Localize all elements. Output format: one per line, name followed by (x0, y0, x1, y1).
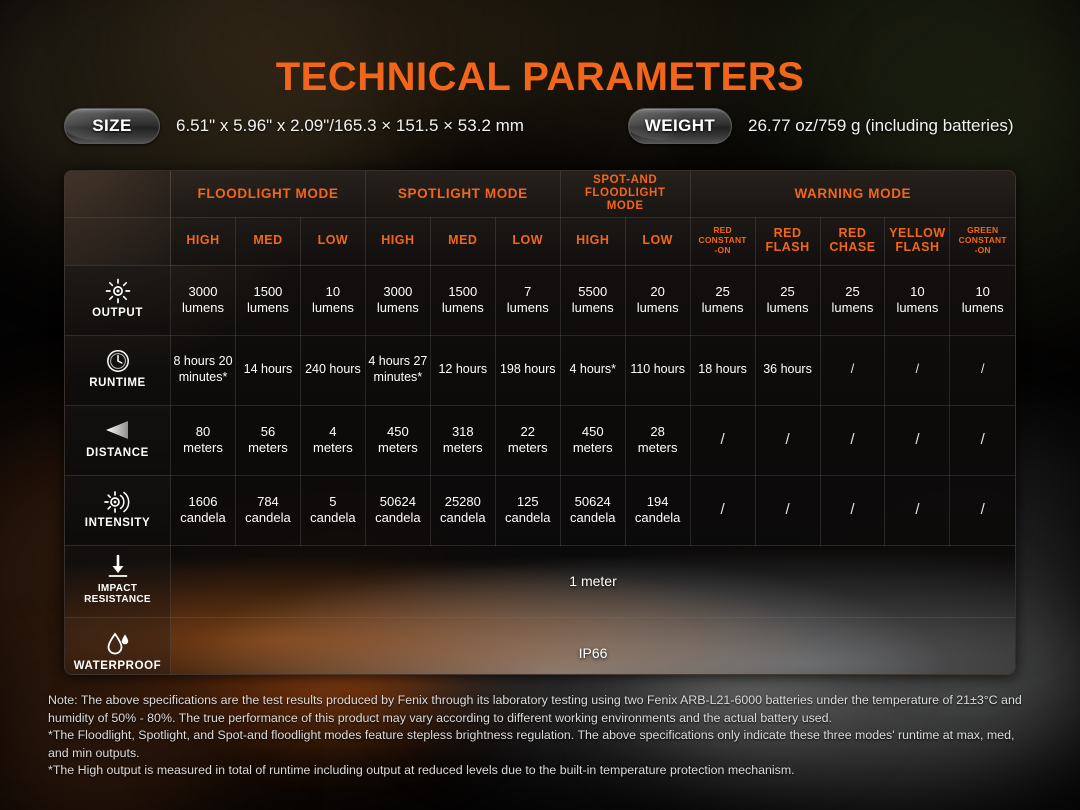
cell-output-3: 3000lumens (365, 265, 430, 335)
row-label-impact-line1: IMPACT (67, 583, 168, 594)
subheader-green-constant-line2: CONSTANT (959, 235, 1007, 245)
cell-distance-2: 4meters (300, 405, 365, 475)
cell-intensity-9: / (755, 475, 820, 545)
cell-runtime-4: 12 hours (430, 335, 495, 405)
page-title: TECHNICAL PARAMETERS (0, 55, 1080, 100)
table-row-waterproof: WATERPROOF IP66 (65, 617, 1015, 675)
cell-impact-resistance-value: 1 meter (171, 545, 1015, 617)
weight-badge: WEIGHT (628, 108, 732, 144)
subheader-floodlight-med: MED (235, 217, 300, 265)
row-label-output-text: OUTPUT (67, 307, 168, 320)
subheader-floodlight-high: HIGH (171, 217, 236, 265)
intensity-icon (67, 488, 168, 514)
cell-output-10: 25lumens (820, 265, 885, 335)
subheader-red-chase-line1: RED (839, 226, 867, 240)
header-corner-cell (65, 171, 171, 217)
cell-distance-8: / (690, 405, 755, 475)
subheader-yellow-flash: YELLOW FLASH (885, 217, 950, 265)
subheader-red-constant-on: RED CONSTANT -ON (690, 217, 755, 265)
header-group-floodlight: FLOODLIGHT MODE (171, 171, 366, 217)
cell-runtime-2: 240 hours (300, 335, 365, 405)
row-label-runtime: RUNTIME (65, 335, 171, 405)
subheader-spotlight-high: HIGH (365, 217, 430, 265)
clock-icon (67, 348, 168, 374)
table-subheader-row: HIGH MED LOW HIGH MED LOW HIGH LOW RED C… (65, 217, 1015, 265)
row-label-intensity-text: INTENSITY (67, 517, 168, 530)
subheader-red-chase: RED CHASE (820, 217, 885, 265)
subheader-red-constant-line1: RED (713, 225, 732, 235)
cell-distance-10: / (820, 405, 885, 475)
cell-distance-5: 22meters (495, 405, 560, 475)
header-group-spotflood-line1: SPOT-AND (593, 174, 657, 186)
weight-value: 26.77 oz/759 g (including batteries) (748, 116, 1014, 136)
weight-badge-label: WEIGHT (645, 116, 715, 136)
cell-output-11: 10lumens (885, 265, 950, 335)
subheader-red-flash: RED FLASH (755, 217, 820, 265)
cell-runtime-1: 14 hours (235, 335, 300, 405)
table-row-impact-resistance: IMPACT RESISTANCE 1 meter (65, 545, 1015, 617)
table-row-distance: DISTANCE 80meters 56meters 4meters 450me… (65, 405, 1015, 475)
table-row-runtime: RUNTIME 8 hours 20 minutes* 14 hours 240… (65, 335, 1015, 405)
cell-intensity-4: 25280candela (430, 475, 495, 545)
header-group-spotflood-line2: FLOODLIGHT (585, 187, 666, 199)
row-label-impact-resistance: IMPACT RESISTANCE (65, 545, 171, 617)
cell-intensity-0: 1606candela (171, 475, 236, 545)
cell-intensity-11: / (885, 475, 950, 545)
size-badge-label: SIZE (92, 116, 131, 136)
row-label-intensity: INTENSITY (65, 475, 171, 545)
header-group-warning: WARNING MODE (690, 171, 1015, 217)
table-group-header-row: FLOODLIGHT MODE SPOTLIGHT MODE SPOT-AND … (65, 171, 1015, 217)
cell-runtime-5: 198 hours (495, 335, 560, 405)
cell-runtime-6: 4 hours* (560, 335, 625, 405)
cell-runtime-7: 110 hours (625, 335, 690, 405)
header-group-spotflood-line3: MODE (607, 200, 644, 212)
cell-output-9: 25lumens (755, 265, 820, 335)
subheader-red-flash-line1: RED (774, 226, 802, 240)
cell-distance-1: 56meters (235, 405, 300, 475)
cell-distance-0: 80meters (171, 405, 236, 475)
subheader-red-flash-line2: FLASH (765, 240, 809, 254)
beam-cone-icon (67, 418, 168, 444)
cell-output-2: 10lumens (300, 265, 365, 335)
cell-intensity-1: 784candela (235, 475, 300, 545)
subheader-spotflood-high: HIGH (560, 217, 625, 265)
row-label-waterproof-text: WATERPROOF (67, 660, 168, 673)
subheader-red-chase-line2: CHASE (829, 240, 875, 254)
cell-intensity-6: 50624candela (560, 475, 625, 545)
cell-output-1: 1500lumens (235, 265, 300, 335)
row-label-distance: DISTANCE (65, 405, 171, 475)
subheader-red-constant-line2: CONSTANT (698, 235, 746, 245)
cell-distance-6: 450meters (560, 405, 625, 475)
cell-output-0: 3000lumens (171, 265, 236, 335)
cell-runtime-11: / (885, 335, 950, 405)
table-row-output: OUTPUT 3000lumens 1500lumens 10lumens 30… (65, 265, 1015, 335)
cell-runtime-9: 36 hours (755, 335, 820, 405)
subheader-green-constant-line1: GREEN (967, 225, 998, 235)
subheader-spotflood-low: LOW (625, 217, 690, 265)
cell-runtime-10: / (820, 335, 885, 405)
spec-weight: WEIGHT 26.77 oz/759 g (including batteri… (628, 108, 1014, 144)
subheader-red-constant-line3: -ON (715, 245, 731, 255)
table-row-intensity: INTENSITY 1606candela 784candela 5candel… (65, 475, 1015, 545)
cell-intensity-5: 125candela (495, 475, 560, 545)
row-label-distance-text: DISTANCE (67, 447, 168, 460)
footnote-line-1: Note: The above specifications are the t… (48, 692, 1032, 727)
size-badge: SIZE (64, 108, 160, 144)
cell-waterproof-value: IP66 (171, 617, 1015, 675)
cell-output-4: 1500lumens (430, 265, 495, 335)
cell-intensity-2: 5candela (300, 475, 365, 545)
subheader-yellow-flash-line1: YELLOW (889, 226, 945, 240)
spec-size: SIZE 6.51" x 5.96" x 2.09"/165.3 × 151.5… (64, 108, 524, 144)
footnote-line-3: *The High output is measured in total of… (48, 762, 1032, 780)
subheader-spotlight-low: LOW (495, 217, 560, 265)
row-label-impact-line2: RESISTANCE (67, 594, 168, 605)
cell-runtime-12: / (950, 335, 1015, 405)
cell-distance-3: 450meters (365, 405, 430, 475)
cell-output-8: 25lumens (690, 265, 755, 335)
row-label-output: OUTPUT (65, 265, 171, 335)
cell-intensity-8: / (690, 475, 755, 545)
impact-arrow-icon (67, 554, 168, 580)
cell-output-6: 5500lumens (560, 265, 625, 335)
footnote-line-2: *The Floodlight, Spotlight, and Spot-and… (48, 727, 1032, 762)
water-drop-icon (67, 631, 168, 657)
cell-intensity-7: 194candela (625, 475, 690, 545)
header-group-spotlight: SPOTLIGHT MODE (365, 171, 560, 217)
subheader-spotlight-med: MED (430, 217, 495, 265)
footnotes: Note: The above specifications are the t… (48, 692, 1032, 780)
cell-runtime-8: 18 hours (690, 335, 755, 405)
spec-strip: SIZE 6.51" x 5.96" x 2.09"/165.3 × 151.5… (0, 108, 1080, 154)
cell-distance-12: / (950, 405, 1015, 475)
cell-output-7: 20lumens (625, 265, 690, 335)
cell-output-5: 7lumens (495, 265, 560, 335)
cell-distance-11: / (885, 405, 950, 475)
cell-output-12: 10lumens (950, 265, 1015, 335)
cell-runtime-3: 4 hours 27 minutes* (365, 335, 430, 405)
sun-output-icon (67, 278, 168, 304)
cell-intensity-10: / (820, 475, 885, 545)
row-label-runtime-text: RUNTIME (67, 377, 168, 390)
cell-intensity-3: 50624candela (365, 475, 430, 545)
cell-intensity-12: / (950, 475, 1015, 545)
row-label-waterproof: WATERPROOF (65, 617, 171, 675)
cell-distance-9: / (755, 405, 820, 475)
subheader-green-constant-on: GREEN CONSTANT -ON (950, 217, 1015, 265)
subheader-corner-cell (65, 217, 171, 265)
cell-distance-7: 28meters (625, 405, 690, 475)
subheader-green-constant-line3: -ON (975, 245, 991, 255)
specs-table-panel: FLOODLIGHT MODE SPOTLIGHT MODE SPOT-AND … (64, 170, 1016, 675)
size-value: 6.51" x 5.96" x 2.09"/165.3 × 151.5 × 53… (176, 116, 524, 136)
subheader-floodlight-low: LOW (300, 217, 365, 265)
header-group-spot-and-floodlight: SPOT-AND FLOODLIGHT MODE (560, 171, 690, 217)
cell-distance-4: 318meters (430, 405, 495, 475)
technical-parameters-table: FLOODLIGHT MODE SPOTLIGHT MODE SPOT-AND … (65, 171, 1015, 675)
cell-runtime-0: 8 hours 20 minutes* (171, 335, 236, 405)
subheader-yellow-flash-line2: FLASH (895, 240, 939, 254)
